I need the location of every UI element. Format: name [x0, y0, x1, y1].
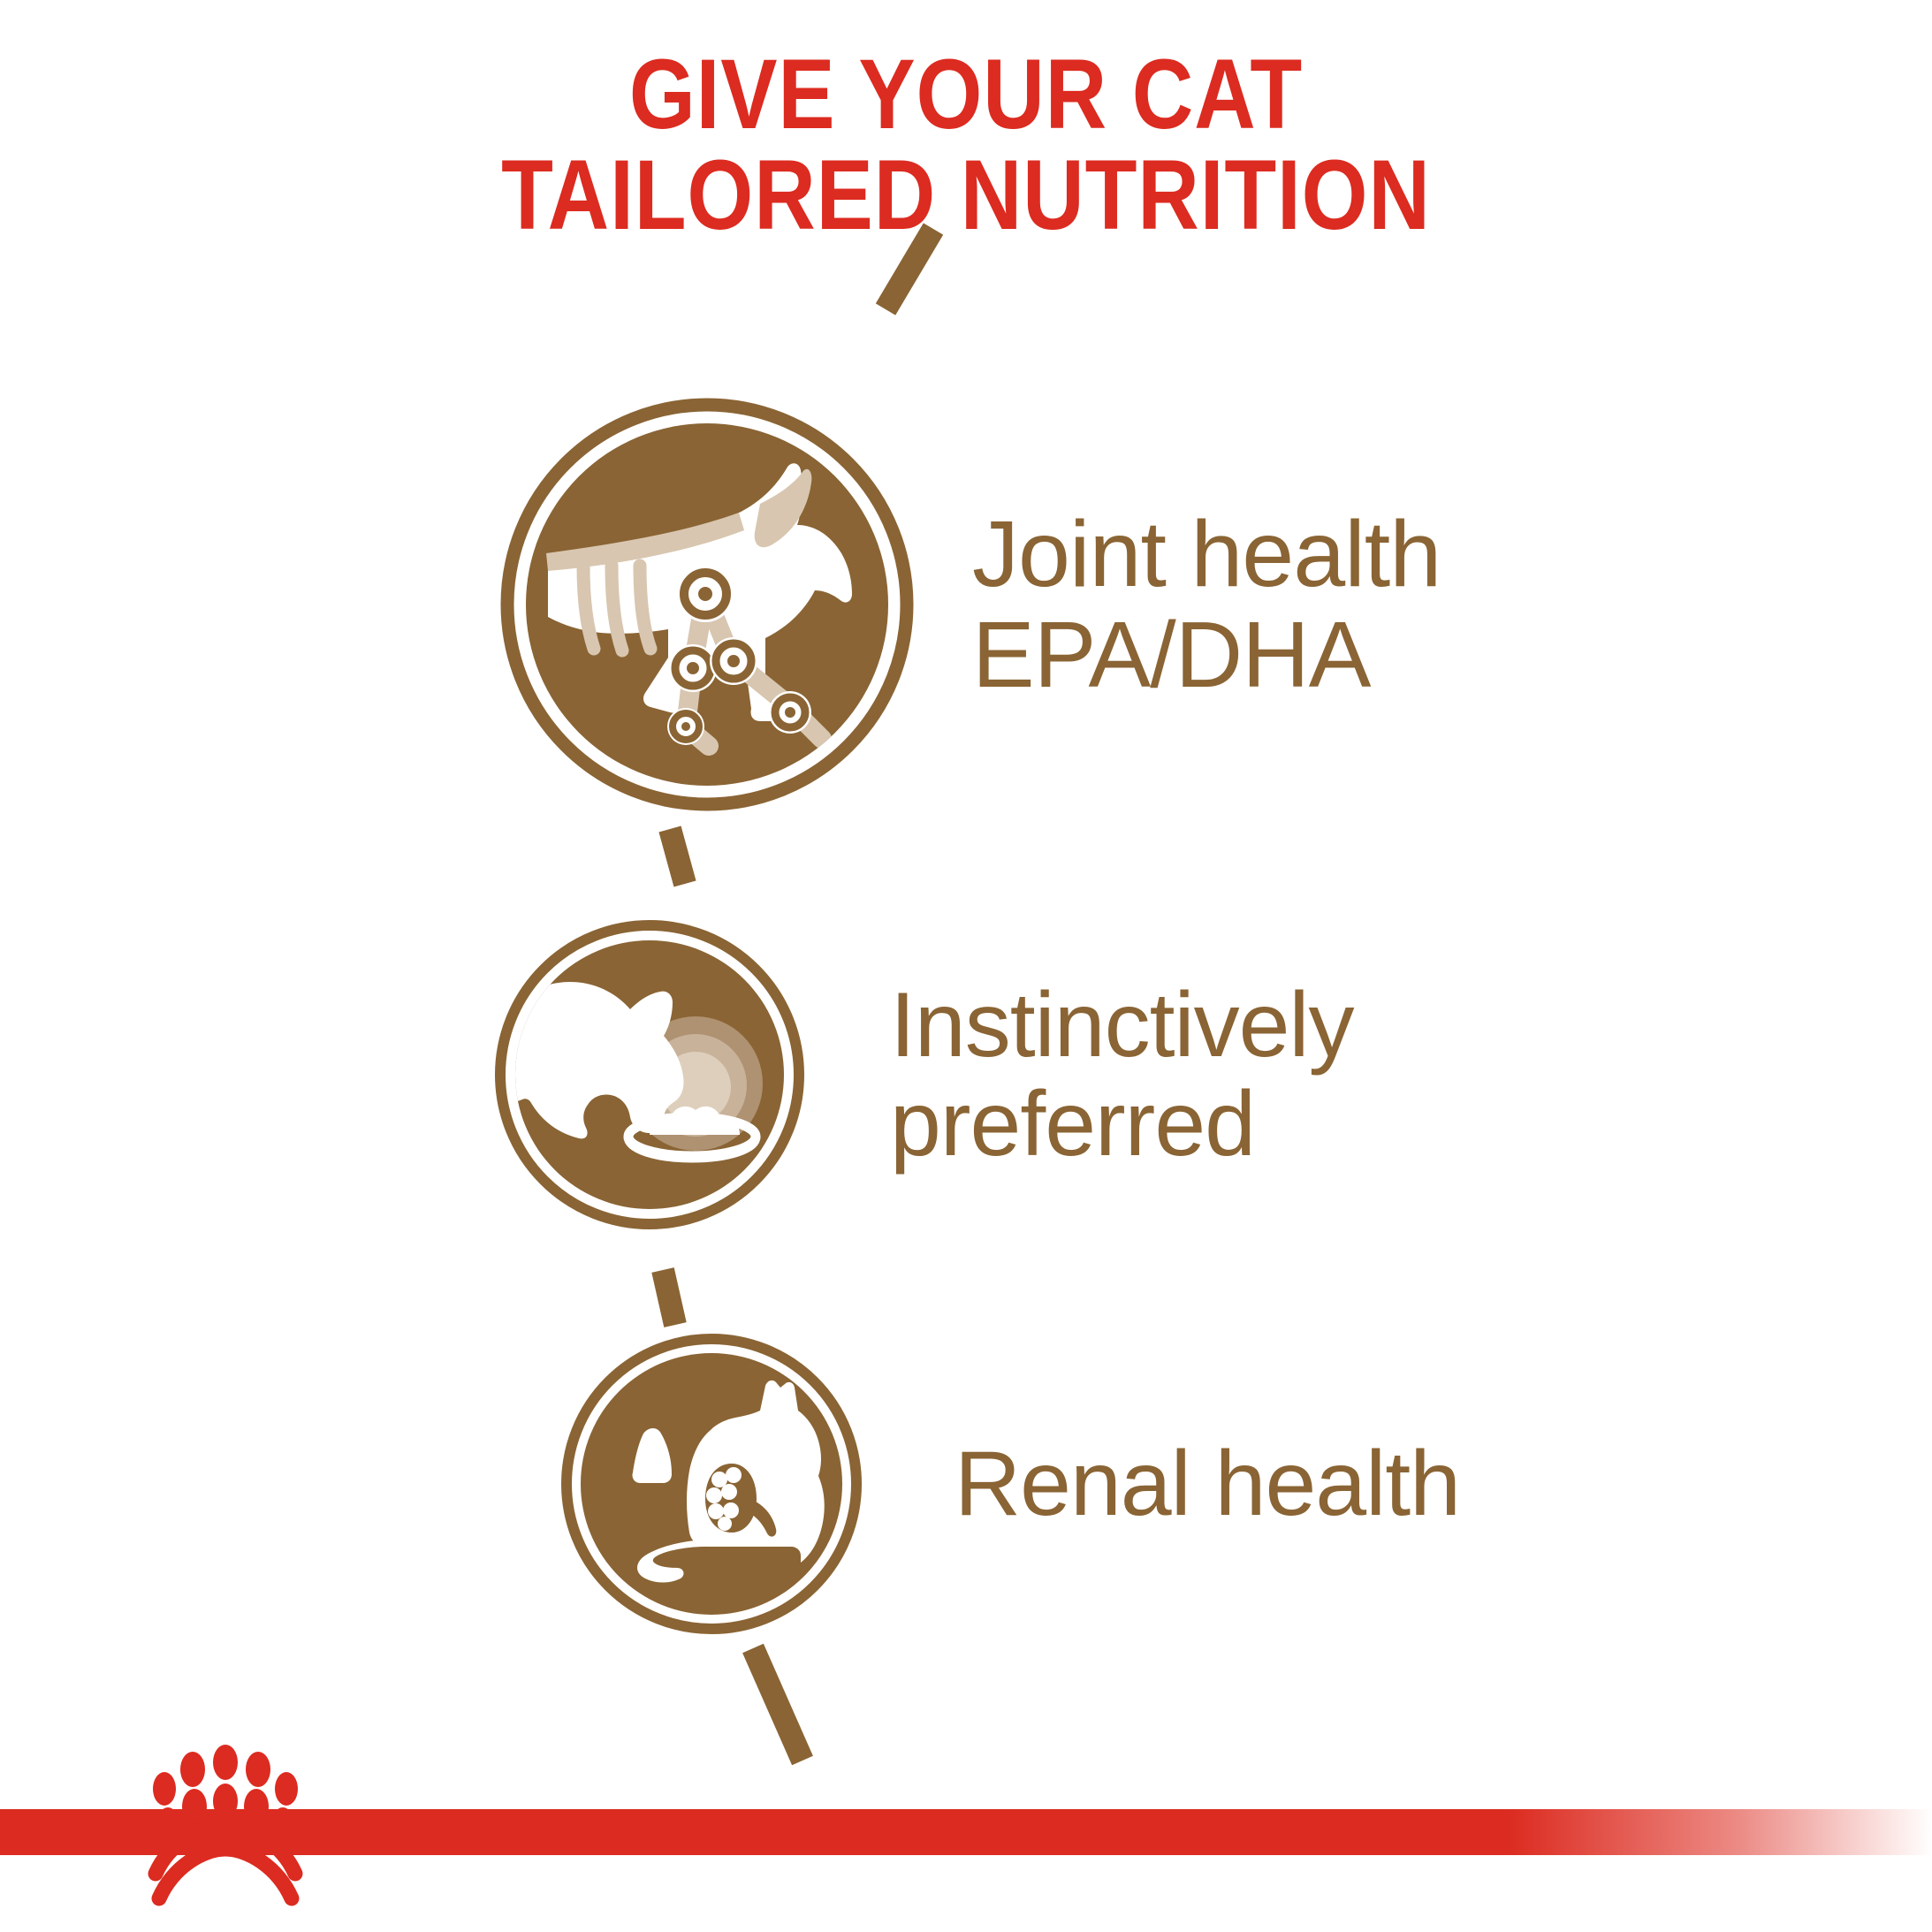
benefit-label-joint-health: Joint health EPA/DHA — [972, 504, 1441, 706]
benefit-label-renal-health: Renal health — [955, 1434, 1460, 1533]
connector-dash-bottom — [753, 1648, 802, 1761]
connector-dash-1-2 — [670, 829, 685, 884]
benefit-badge-joint-health — [495, 392, 919, 817]
royal-canin-crown-logo — [124, 1743, 327, 1911]
cat-eating-bowl-aroma-icon — [491, 916, 809, 1234]
cat-skeleton-joints-icon — [495, 392, 919, 817]
benefit-badge-renal-health — [557, 1329, 866, 1639]
page-title-line-2: TAILORED NUTRITION — [135, 145, 1797, 246]
connector-dash-2-3 — [663, 1270, 675, 1325]
page-title: GIVE YOUR CAT TAILORED NUTRITION — [135, 44, 1797, 246]
cat-kidney-icon — [557, 1329, 866, 1639]
benefit-row-joint-health: Joint health EPA/DHA — [495, 392, 1441, 817]
benefit-row-instinctively-preferred: Instinctively preferred — [491, 916, 1354, 1234]
benefit-badge-instinctively-preferred — [491, 916, 809, 1234]
benefit-row-renal-health: Renal health — [557, 1329, 1460, 1639]
page-title-line-1: GIVE YOUR CAT — [135, 44, 1797, 145]
packaging-benefits-panel: GIVE YOUR CAT TAILORED NUTRITION — [0, 0, 1932, 1932]
benefit-label-instinctively-preferred: Instinctively preferred — [890, 976, 1354, 1175]
